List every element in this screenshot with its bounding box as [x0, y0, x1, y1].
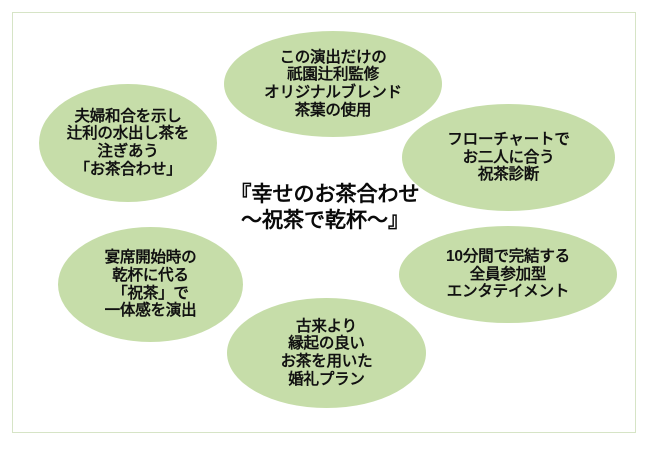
bubble-bottom-center: 古来より 縁起の良い お茶を用いた 婚礼プラン: [227, 298, 426, 408]
bubble-left: 夫婦和合を示し 辻利の水出し茶を 注ぎあう 「お茶合わせ」: [39, 84, 217, 202]
bubble-right-upper-label: フローチャートで お二人に合う 祝茶診断: [443, 131, 573, 184]
center-title: 『幸せのお茶合わせ ～祝茶で乾杯～』: [196, 182, 454, 233]
bubble-top-center-label: この演出だけの 祇園辻利監修 オリジナルブレンド 茶葉の使用: [260, 49, 406, 120]
bubble-top-center: この演出だけの 祇園辻利監修 オリジナルブレンド 茶葉の使用: [224, 31, 442, 137]
bubble-right-lower: 10分間で完結する 全員参加型 エンタテイメント: [399, 226, 617, 323]
infographic-canvas: この演出だけの 祇園辻利監修 オリジナルブレンド 茶葉の使用 夫婦和合を示し 辻…: [0, 0, 650, 450]
bubble-bottom-center-label: 古来より 縁起の良い お茶を用いた 婚礼プラン: [277, 318, 377, 389]
bubble-bottom-left: 宴席開始時の 乾杯に代る 「祝茶」で 一体感を演出: [58, 227, 243, 342]
bubble-left-label: 夫婦和合を示し 辻利の水出し茶を 注ぎあう 「お茶合わせ」: [63, 108, 193, 179]
bubble-bottom-left-label: 宴席開始時の 乾杯に代る 「祝茶」で 一体感を演出: [101, 249, 201, 320]
bubble-right-lower-label: 10分間で完結する 全員参加型 エンタテイメント: [442, 248, 574, 301]
